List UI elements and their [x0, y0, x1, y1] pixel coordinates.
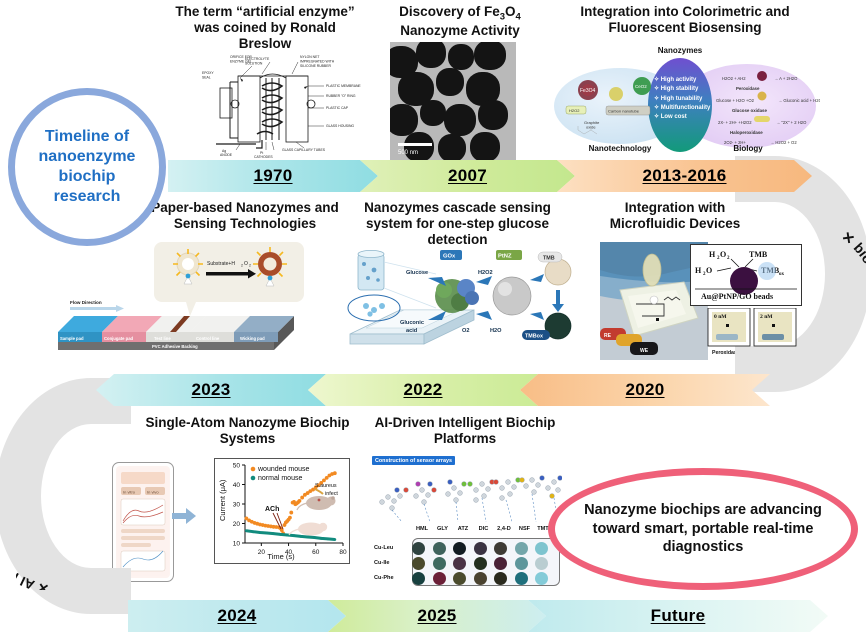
timeline-infographic: ✕ biochip ✕ AI Integration Timeline of n…: [0, 0, 866, 631]
svg-text:Peroxidase: Peroxidase: [736, 86, 760, 91]
svg-text:40: 40: [233, 482, 241, 489]
sensor-well: [453, 542, 466, 555]
svg-text:ORIFICE FOR: ORIFICE FOR: [230, 55, 252, 59]
conclusion-badge: Nanozyme biochips are advancing toward s…: [548, 468, 858, 590]
sensor-well: [535, 542, 548, 555]
phone-to-chart-arrow: [172, 508, 196, 524]
svg-text:→ A + 2H2O: → A + 2H2O: [774, 76, 798, 81]
sensor-well: [453, 557, 466, 570]
sensor-well: [515, 542, 528, 555]
svg-text:10: 10: [233, 540, 241, 547]
svg-text:✕ AI Integration: ✕ AI Integration: [16, 519, 50, 590]
tem-scale-label: 500 nm: [398, 150, 418, 156]
arc-right-label: ✕ biochip: [826, 228, 846, 372]
arc-right-text: ✕ biochip: [839, 228, 866, 293]
svg-text:20: 20: [258, 549, 266, 556]
year-bar-row-1: 1970 2007 2013-2016: [168, 160, 828, 192]
svg-text:ANODE: ANODE: [220, 153, 233, 157]
svg-text:30: 30: [233, 501, 241, 508]
svg-text:2: 2: [249, 264, 251, 268]
sensor-well: [474, 557, 487, 570]
svg-text:Test line: Test line: [154, 336, 171, 341]
svg-text:50: 50: [233, 462, 241, 469]
svg-text:Substrate+H: Substrate+H: [207, 261, 235, 267]
svg-text:→ H2O2 + O2: → H2O2 + O2: [770, 140, 797, 145]
year-label-1970: 1970: [253, 166, 292, 186]
svg-text:TMB: TMB: [543, 256, 555, 262]
svg-text:Fe3O4: Fe3O4: [580, 88, 596, 94]
svg-text:infect: infect: [325, 491, 338, 497]
svg-text:S.aureus: S.aureus: [315, 483, 337, 489]
svg-text:WE: WE: [640, 348, 649, 354]
svg-text:Gluconic: Gluconic: [400, 320, 424, 326]
svg-text:Glucose: Glucose: [406, 270, 428, 276]
svg-text:wounded mouse: wounded mouse: [257, 466, 309, 473]
sensor-row-Cu-Phe: Cu-Phe: [374, 575, 394, 581]
svg-text:Conjugate pad: Conjugate pad: [104, 336, 134, 341]
svg-text:O2: O2: [462, 328, 469, 334]
figure-tem-micrograph: 500 nm: [390, 42, 516, 160]
milestone-title-2022: Nanozymes cascade sensing system for one…: [355, 200, 560, 249]
sensor-well: [412, 542, 425, 555]
svg-text:GOx: GOx: [443, 254, 456, 260]
svg-text:2O2- + 2H+: 2O2- + 2H+: [724, 140, 746, 145]
svg-text:EPOXY: EPOXY: [202, 71, 214, 75]
milestone-title-2023: Paper-based Nanozymes and Sensing Techno…: [140, 200, 350, 232]
svg-text:Carbon nanotube: Carbon nanotube: [608, 109, 640, 114]
year-label-2013-2016: 2013-2016: [643, 166, 727, 186]
year-bar-row-3: 2024 2025 Future: [128, 600, 828, 632]
figure-test-strips: 0 nM 2 nM: [706, 308, 798, 348]
svg-text:O: O: [720, 250, 726, 259]
arc-left-text: ✕ AI Integration: [16, 519, 50, 590]
svg-text:2: 2: [727, 256, 730, 261]
svg-text:RE: RE: [604, 333, 612, 339]
molecule-structures: [372, 466, 562, 524]
svg-text:H2O2: H2O2: [478, 270, 493, 276]
figure-lateral-flow-strip: Sample pad Conjugate pad Test line Contr…: [44, 240, 336, 366]
milestone-title-2024: Single-Atom Nanozyme Biochip Systems: [145, 415, 350, 447]
sensor-well: [494, 572, 507, 585]
start-badge-label: Timeline of nanoenzyme biochip research: [15, 127, 159, 207]
svg-text:NYLON NET: NYLON NET: [300, 55, 319, 59]
arc-left-label: ✕ AI Integration: [16, 415, 76, 594]
svg-text:Current (μA): Current (μA): [218, 479, 227, 521]
year-label-2025: 2025: [417, 606, 456, 626]
svg-text:Glucose + H2O +O2: Glucose + H2O +O2: [716, 98, 755, 103]
svg-text:Sample pad: Sample pad: [60, 336, 84, 341]
tem-scale-bar: [398, 143, 432, 146]
year-label-2023: 2023: [191, 380, 230, 400]
svg-text:normal mouse: normal mouse: [258, 475, 302, 482]
figure-venn-diagram: Nanozymes Nanotechnology Biology ✧ High …: [550, 46, 820, 158]
sensor-well: [494, 542, 507, 555]
svg-text:2: 2: [241, 264, 243, 268]
year-label-2024: 2024: [217, 606, 256, 626]
svg-text:O: O: [244, 261, 248, 267]
svg-text:acid: acid: [406, 328, 418, 334]
svg-text:0 nM: 0 nM: [714, 314, 727, 320]
sensor-well: [474, 572, 487, 585]
svg-text:→ Gluconic acid + H2O2: → Gluconic acid + H2O2: [778, 98, 820, 103]
svg-text:PLASTIC CAP: PLASTIC CAP: [326, 106, 349, 110]
sensor-well: [453, 572, 466, 585]
svg-text:Wicking pad: Wicking pad: [240, 336, 265, 341]
svg-text:H2O2: H2O2: [569, 108, 580, 113]
svg-text:PVC Adhesive Backing: PVC Adhesive Backing: [152, 344, 198, 349]
svg-text:Control line: Control line: [196, 336, 220, 341]
year-chevron-future[interactable]: Future: [528, 600, 828, 632]
sensor-row-Cu-Leu: Cu-Leu: [374, 545, 393, 551]
year-chevron-2025[interactable]: 2025: [328, 600, 546, 632]
svg-text:H: H: [695, 266, 702, 275]
svg-text:2X- + 2H+ +H2O2: 2X- + 2H+ +H2O2: [718, 120, 752, 125]
svg-text:2 nM: 2 nM: [760, 314, 773, 320]
svg-text:→ "2X" + 2 H2O: → "2X" + 2 H2O: [776, 120, 807, 125]
year-bar-row-2: 2023 2022 2020: [96, 374, 806, 406]
year-chevron-2024[interactable]: 2024: [128, 600, 346, 632]
svg-text:Glucose oxidase: Glucose oxidase: [732, 108, 767, 113]
svg-text:Time (s): Time (s): [267, 552, 295, 561]
sensor-well: [535, 557, 548, 570]
year-chevron-2020[interactable]: 2020: [520, 374, 770, 406]
svg-text:H2O2 + AH2: H2O2 + AH2: [722, 76, 746, 81]
figure-current-time-chart: 204060801020304050 wounded mousenormal m…: [214, 458, 350, 564]
svg-text:SILICONE RUBBER: SILICONE RUBBER: [300, 64, 331, 68]
year-chevron-1970[interactable]: 1970: [168, 160, 378, 192]
year-chevron-2007[interactable]: 2007: [360, 160, 575, 192]
svg-text:80: 80: [339, 549, 347, 556]
year-label-2007: 2007: [448, 166, 487, 186]
sensor-well: [474, 542, 487, 555]
figure-cascade-reaction: GOx PtNZ TMB TMBox Glucose Gluconicacid …: [344, 248, 576, 366]
sensor-well: [433, 542, 446, 555]
svg-text:ACh: ACh: [265, 506, 279, 513]
sensor-array-banner: Construction of sensor arrays: [372, 456, 455, 465]
milestone-title-2007: Discovery of Fe3O4Nanozyme Activity: [380, 4, 540, 39]
svg-text:In vivo: In vivo: [147, 490, 159, 495]
svg-text:IMPREGNATED WITH: IMPREGNATED WITH: [300, 60, 335, 64]
svg-text:TMBox: TMBox: [525, 334, 543, 340]
milestone-title-2020: Integration with Microfluidic Devices: [590, 200, 760, 232]
svg-text:H2O: H2O: [490, 328, 502, 334]
sensor-well: [515, 572, 528, 585]
sensor-well: [535, 572, 548, 585]
figure-electrode-schematic: ELECTROLYTESOLUTION ORIFICE FORENZYME GE…: [200, 48, 370, 160]
start-badge: Timeline of nanoenzyme biochip research: [8, 88, 166, 246]
conclusion-text: Nanozyme biochips are advancing toward s…: [555, 501, 851, 558]
year-label-future: Future: [651, 606, 706, 626]
milestone-title-2013-2016: Integration into Colorimetric and Fluore…: [550, 4, 820, 36]
svg-text:O: O: [706, 266, 712, 275]
svg-text:GLASS CAPILLARY TUBES: GLASS CAPILLARY TUBES: [282, 148, 326, 152]
svg-text:CeO2: CeO2: [635, 84, 647, 89]
sensor-well: [515, 557, 528, 570]
svg-text:RUBBER "O" RING: RUBBER "O" RING: [326, 94, 356, 98]
svg-text:ENZYME GEL: ENZYME GEL: [230, 60, 252, 64]
sensor-well: [433, 572, 446, 585]
milestone-title-1970: The term “artificial enzyme” was coined …: [170, 4, 360, 53]
sensor-well: [433, 557, 446, 570]
svg-text:PtNZ: PtNZ: [498, 254, 512, 260]
svg-text:60: 60: [312, 549, 320, 556]
year-chevron-2023[interactable]: 2023: [96, 374, 326, 406]
sensor-row-Cu-Ile: Cu-Ile: [374, 560, 390, 566]
svg-text:✕ biochip: ✕ biochip: [839, 228, 866, 293]
svg-text:CATHODES: CATHODES: [254, 155, 273, 159]
svg-text:GLASS HOUSING: GLASS HOUSING: [326, 124, 354, 128]
year-label-2020: 2020: [625, 380, 664, 400]
sensor-well: [412, 572, 425, 585]
svg-text:H: H: [709, 250, 716, 259]
year-chevron-2022[interactable]: 2022: [308, 374, 538, 406]
svg-text:Flow Direction: Flow Direction: [70, 300, 102, 305]
svg-text:Haloperoxidase: Haloperoxidase: [730, 130, 763, 135]
sensor-well: [412, 557, 425, 570]
svg-text:PLASTIC MEMBRANE: PLASTIC MEMBRANE: [326, 84, 361, 88]
svg-text:20: 20: [233, 521, 241, 528]
sensor-well: [494, 557, 507, 570]
year-label-2022: 2022: [403, 380, 442, 400]
figure-sensor-array: Construction of sensor arrays: [372, 456, 562, 586]
year-chevron-2013-2016[interactable]: 2013-2016: [557, 160, 812, 192]
svg-text:SEAL: SEAL: [202, 76, 211, 80]
milestone-title-2025: AI-Driven Intelligent Biochip Platforms: [370, 415, 560, 447]
